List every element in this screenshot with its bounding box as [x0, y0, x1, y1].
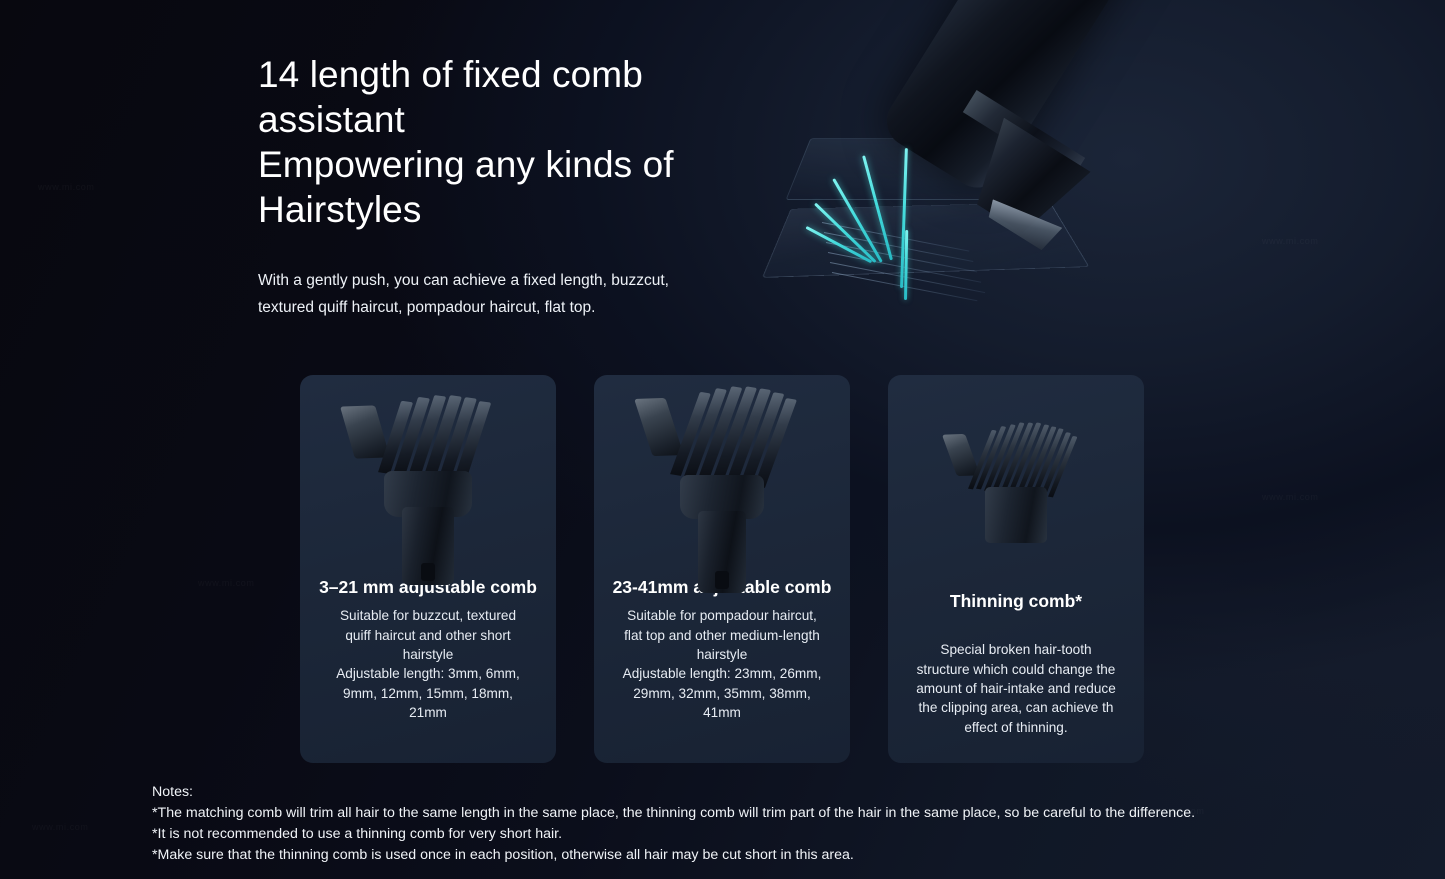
comb-cards-row: 3–21 mm adjustable comb Suitable for buz…: [300, 375, 1146, 763]
desc-line-5: effect of thinning.: [900, 718, 1132, 737]
desc-line-1: Special broken hair-tooth: [900, 640, 1132, 659]
comb-image-23-41mm: [594, 375, 850, 575]
notes-line-3: *Make sure that the thinning comb is use…: [152, 845, 1342, 866]
hero-product-image: [770, 0, 1290, 350]
headline-line-3: Empowering any kinds of: [258, 142, 778, 187]
comb-side-plate: [634, 398, 684, 456]
headline-line-1: 14 length of fixed comb: [258, 52, 778, 97]
notes-heading: Notes:: [152, 782, 1342, 803]
card-description: Suitable for pompadour haircut, flat top…: [594, 600, 850, 722]
desc-line-3: hairstyle: [606, 645, 838, 664]
hero-subcopy: With a gently push, you can achieve a fi…: [258, 268, 798, 321]
headline-line-4: Hairstyles: [258, 187, 778, 232]
desc-line-1: Suitable for pompadour haircut,: [606, 606, 838, 625]
comb-card-3-21mm[interactable]: 3–21 mm adjustable comb Suitable for buz…: [300, 375, 556, 763]
comb-side-plate: [340, 405, 390, 458]
card-description: Special broken hair-tooth structure whic…: [888, 614, 1144, 736]
comb-card-thinning[interactable]: Thinning comb* Special broken hair-tooth…: [888, 375, 1144, 763]
comb-hub: [985, 487, 1047, 543]
page-title: 14 length of fixed comb assistant Empowe…: [258, 52, 778, 233]
watermark: www.mi.com: [1262, 492, 1319, 502]
watermark: www.mi.com: [198, 578, 255, 588]
desc-line-5: 9mm, 12mm, 15mm, 18mm,: [312, 684, 544, 703]
notes-line-2: *It is not recommended to use a thinning…: [152, 824, 1342, 845]
notes-line-1: *The matching comb will trim all hair to…: [152, 803, 1342, 824]
subcopy-line-1: With a gently push, you can achieve a fi…: [258, 268, 798, 295]
desc-line-6: 21mm: [312, 703, 544, 722]
subcopy-line-2: textured quiff haircut, pompadour haircu…: [258, 295, 798, 322]
desc-line-2: flat top and other medium-length: [606, 626, 838, 645]
desc-line-3: hairstyle: [312, 645, 544, 664]
comb-stem: [402, 507, 454, 585]
watermark: www.mi.com: [32, 822, 89, 832]
desc-line-3: amount of hair-intake and reduce: [900, 679, 1132, 698]
comb-image-thinning: [888, 375, 1144, 575]
comb-card-23-41mm[interactable]: 23-41mm adjustable comb Suitable for pom…: [594, 375, 850, 763]
card-title: Thinning comb*: [888, 589, 1144, 614]
hair-strand: [904, 230, 908, 300]
desc-line-2: structure which could change the: [900, 660, 1132, 679]
desc-line-1: Suitable for buzzcut, textured: [312, 606, 544, 625]
watermark: www.mi.com: [38, 182, 95, 192]
desc-line-5: 29mm, 32mm, 35mm, 38mm,: [606, 684, 838, 703]
desc-line-4: the clipping area, can achieve th: [900, 698, 1132, 717]
comb-image-3-21mm: [300, 375, 556, 575]
desc-line-4: Adjustable length: 23mm, 26mm,: [606, 664, 838, 683]
product-feature-page: www.mi.com www.mi.com www.mi.com www.mi.…: [0, 0, 1445, 879]
desc-line-4: Adjustable length: 3mm, 6mm,: [312, 664, 544, 683]
card-description: Suitable for buzzcut, textured quiff hai…: [300, 600, 556, 722]
notes-section: Notes: *The matching comb will trim all …: [152, 782, 1342, 866]
desc-line-2: quiff haircut and other short: [312, 626, 544, 645]
desc-line-6: 41mm: [606, 703, 838, 722]
headline-line-2: assistant: [258, 97, 778, 142]
comb-stem: [698, 511, 746, 593]
